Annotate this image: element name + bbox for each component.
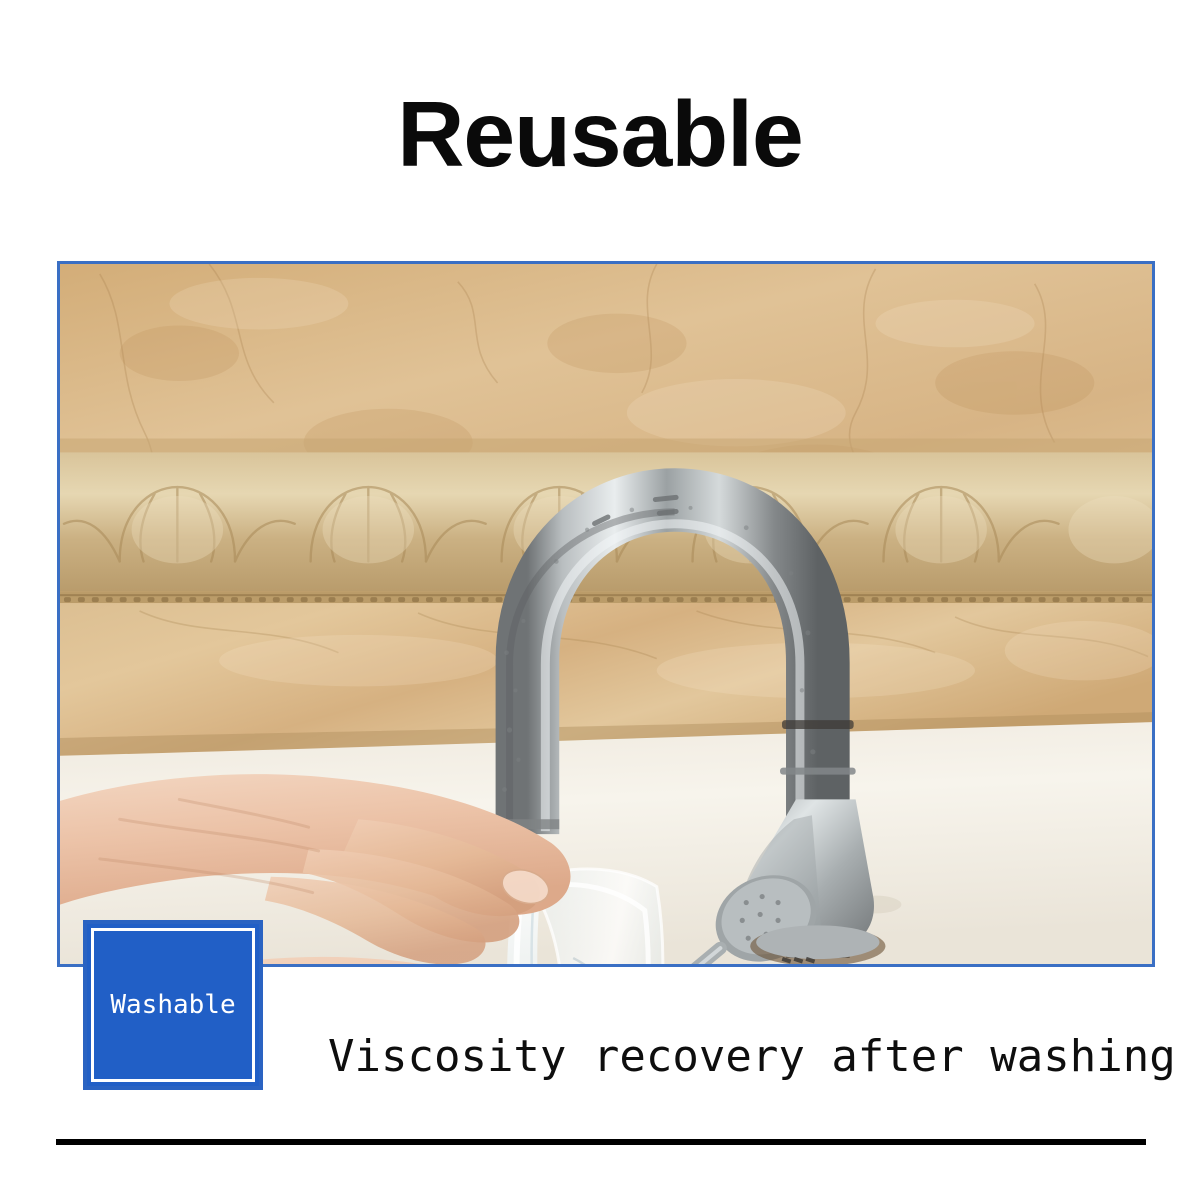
bottom-divider xyxy=(56,1139,1146,1145)
caption-text: Viscosity recovery after washing xyxy=(328,1029,1134,1085)
page-title: Reusable xyxy=(0,86,1200,182)
product-photo xyxy=(57,261,1155,967)
product-photo-illustration xyxy=(60,264,1152,964)
washable-badge: Washable xyxy=(83,920,263,1090)
washable-badge-inner: Washable xyxy=(91,928,255,1082)
washable-badge-label: Washable xyxy=(110,990,235,1020)
